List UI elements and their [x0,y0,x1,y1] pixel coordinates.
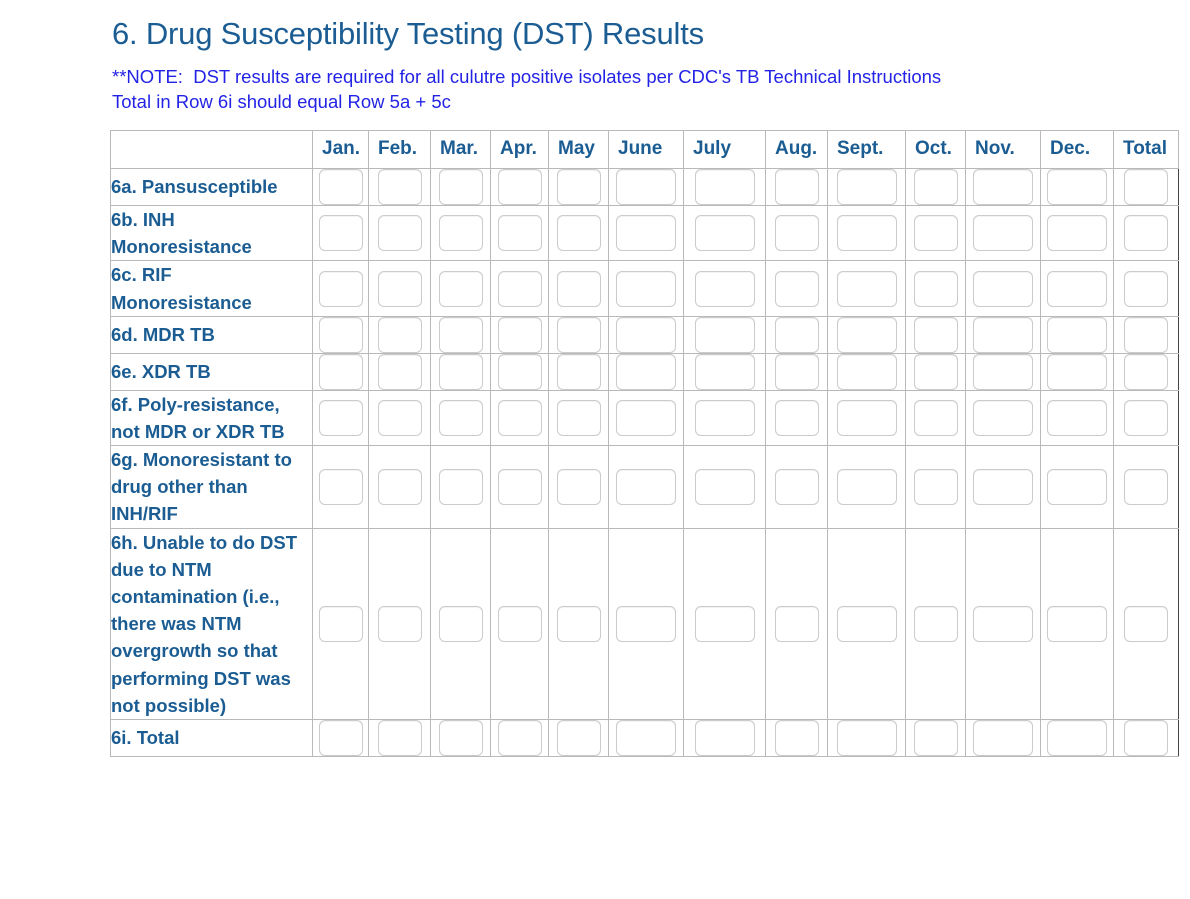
input-r1-c7[interactable] [775,215,819,251]
input-r7-c2[interactable] [439,606,483,642]
input-r1-c3[interactable] [498,215,542,251]
input-r1-c6[interactable] [695,215,755,251]
table-cell [966,390,1041,445]
input-r1-c9[interactable] [914,215,958,251]
input-r2-c3[interactable] [498,271,542,307]
table-cell [369,719,431,756]
input-r5-c5[interactable] [616,400,676,436]
table-cell [1114,446,1179,529]
table-cell [1114,168,1179,205]
input-r0-c5[interactable] [616,169,676,205]
table-cell [609,528,684,719]
input-r4-c4[interactable] [557,354,601,390]
column-header-sept: Sept. [828,130,906,168]
input-r8-c5[interactable] [616,720,676,756]
input-r3-c5[interactable] [616,317,676,353]
input-r3-c12[interactable] [1124,317,1168,353]
table-cell [766,168,828,205]
input-r2-c5[interactable] [616,271,676,307]
table-cell [491,261,549,316]
input-r5-c12[interactable] [1124,400,1168,436]
input-r8-c0[interactable] [319,720,363,756]
input-r5-c1[interactable] [378,400,422,436]
input-r4-c2[interactable] [439,354,483,390]
column-header-total: Total [1114,130,1179,168]
table-cell [766,719,828,756]
input-r4-c0[interactable] [319,354,363,390]
table-cell [313,719,369,756]
input-r6-c1[interactable] [378,469,422,505]
input-r8-c4[interactable] [557,720,601,756]
table-cell [549,390,609,445]
header-corner [111,130,313,168]
input-r5-c10[interactable] [973,400,1033,436]
table-cell [313,316,369,353]
input-r8-c1[interactable] [378,720,422,756]
column-header-july: July [684,130,766,168]
input-r2-c9[interactable] [914,271,958,307]
table-cell [491,353,549,390]
input-r0-c4[interactable] [557,169,601,205]
dst-table-container: Jan. Feb. Mar. Apr. May June July Aug. S… [0,114,1190,757]
note-block: **NOTE: DST results are required for all… [0,52,1190,114]
table-cell [549,353,609,390]
input-r8-c8[interactable] [837,720,897,756]
table-cell [369,390,431,445]
input-r0-c6[interactable] [695,169,755,205]
row-label-6: 6g. Monoresistant to drug other than INH… [111,446,313,529]
input-r8-c6[interactable] [695,720,755,756]
table-cell [491,316,549,353]
table-cell [491,168,549,205]
input-r7-c7[interactable] [775,606,819,642]
table-cell [684,719,766,756]
column-header-jan: Jan. [313,130,369,168]
input-r0-c9[interactable] [914,169,958,205]
input-r0-c11[interactable] [1047,169,1107,205]
row-label-4: 6e. XDR TB [111,353,313,390]
input-r8-c10[interactable] [973,720,1033,756]
table-row: 6f. Poly-resistance, not MDR or XDR TB [111,390,1179,445]
table-cell [966,168,1041,205]
page-title: 6. Drug Susceptibility Testing (DST) Res… [0,0,1190,52]
table-cell [906,528,966,719]
table-cell [966,719,1041,756]
table-cell [1041,261,1114,316]
input-r0-c3[interactable] [498,169,542,205]
input-r6-c0[interactable] [319,469,363,505]
table-cell [549,168,609,205]
column-header-nov: Nov. [966,130,1041,168]
input-r4-c12[interactable] [1124,354,1168,390]
table-cell [766,390,828,445]
table-row: 6e. XDR TB [111,353,1179,390]
table-cell [369,316,431,353]
input-r6-c11[interactable] [1047,469,1107,505]
table-cell [549,261,609,316]
input-r7-c5[interactable] [616,606,676,642]
input-r1-c4[interactable] [557,215,601,251]
table-cell [828,205,906,260]
table-cell [431,205,491,260]
table-cell [431,316,491,353]
column-header-may: May [549,130,609,168]
input-r3-c10[interactable] [973,317,1033,353]
table-row: 6a. Pansusceptible [111,168,1179,205]
input-r2-c1[interactable] [378,271,422,307]
table-cell [369,168,431,205]
table-cell [828,316,906,353]
input-r5-c2[interactable] [439,400,483,436]
table-cell [1114,205,1179,260]
input-r7-c11[interactable] [1047,606,1107,642]
table-cell [966,446,1041,529]
table-cell [549,719,609,756]
column-header-dec: Dec. [1041,130,1114,168]
input-r1-c11[interactable] [1047,215,1107,251]
input-r4-c6[interactable] [695,354,755,390]
input-r6-c10[interactable] [973,469,1033,505]
dst-results-table: Jan. Feb. Mar. Apr. May June July Aug. S… [110,130,1179,757]
table-cell [906,390,966,445]
table-cell [1041,168,1114,205]
input-r3-c2[interactable] [439,317,483,353]
input-r2-c10[interactable] [973,271,1033,307]
table-row: 6c. RIF Monoresistance [111,261,1179,316]
table-cell [431,168,491,205]
input-r2-c2[interactable] [439,271,483,307]
table-cell [491,446,549,529]
row-label-5: 6f. Poly-resistance, not MDR or XDR TB [111,390,313,445]
table-cell [369,205,431,260]
table-cell [906,205,966,260]
input-r0-c2[interactable] [439,169,483,205]
input-r7-c9[interactable] [914,606,958,642]
table-cell [684,353,766,390]
table-cell [828,390,906,445]
note-line-required: **NOTE: DST results are required for all… [112,64,1190,89]
table-cell [431,390,491,445]
input-r5-c7[interactable] [775,400,819,436]
table-cell [1041,528,1114,719]
input-r5-c6[interactable] [695,400,755,436]
row-label-2: 6c. RIF Monoresistance [111,261,313,316]
table-cell [906,719,966,756]
table-cell [828,261,906,316]
row-label-7: 6h. Unable to do DST due to NTM contamin… [111,528,313,719]
table-cell [766,528,828,719]
input-r6-c5[interactable] [616,469,676,505]
table-cell [906,353,966,390]
input-r0-c8[interactable] [837,169,897,205]
input-r7-c1[interactable] [378,606,422,642]
input-r0-c0[interactable] [319,169,363,205]
table-row: 6d. MDR TB [111,316,1179,353]
table-cell [828,353,906,390]
input-r2-c12[interactable] [1124,271,1168,307]
input-r2-c7[interactable] [775,271,819,307]
input-r1-c8[interactable] [837,215,897,251]
input-r0-c7[interactable] [775,169,819,205]
input-r3-c1[interactable] [378,317,422,353]
table-cell [431,353,491,390]
row-label-3: 6d. MDR TB [111,316,313,353]
table-cell [684,205,766,260]
table-cell [1114,261,1179,316]
column-header-june: June [609,130,684,168]
input-r6-c3[interactable] [498,469,542,505]
input-r7-c12[interactable] [1124,606,1168,642]
table-cell [369,528,431,719]
input-r0-c1[interactable] [378,169,422,205]
input-r5-c3[interactable] [498,400,542,436]
table-cell [966,528,1041,719]
table-cell [906,316,966,353]
table-cell [431,261,491,316]
table-row: 6i. Total [111,719,1179,756]
table-cell [313,353,369,390]
row-label-0: 6a. Pansusceptible [111,168,313,205]
input-r4-c9[interactable] [914,354,958,390]
table-cell [549,316,609,353]
input-r6-c7[interactable] [775,469,819,505]
table-cell [684,316,766,353]
input-r1-c2[interactable] [439,215,483,251]
input-r8-c11[interactable] [1047,720,1107,756]
table-cell [609,316,684,353]
input-r3-c7[interactable] [775,317,819,353]
table-cell [431,446,491,529]
table-cell [966,353,1041,390]
input-r4-c5[interactable] [616,354,676,390]
table-cell [1041,353,1114,390]
table-row: 6g. Monoresistant to drug other than INH… [111,446,1179,529]
input-r2-c0[interactable] [319,271,363,307]
table-header: Jan. Feb. Mar. Apr. May June July Aug. S… [111,130,1179,168]
table-cell [906,168,966,205]
table-cell [609,390,684,445]
input-r0-c10[interactable] [973,169,1033,205]
table-cell [491,719,549,756]
input-r0-c12[interactable] [1124,169,1168,205]
input-r1-c0[interactable] [319,215,363,251]
input-r6-c12[interactable] [1124,469,1168,505]
column-header-oct: Oct. [906,130,966,168]
input-r5-c8[interactable] [837,400,897,436]
column-header-mar: Mar. [431,130,491,168]
table-cell [684,446,766,529]
table-row: 6h. Unable to do DST due to NTM contamin… [111,528,1179,719]
table-cell [313,261,369,316]
input-r6-c6[interactable] [695,469,755,505]
table-cell [491,205,549,260]
input-r2-c8[interactable] [837,271,897,307]
table-cell [828,528,906,719]
input-r8-c7[interactable] [775,720,819,756]
table-cell [609,719,684,756]
input-r7-c10[interactable] [973,606,1033,642]
input-r7-c3[interactable] [498,606,542,642]
table-cell [491,390,549,445]
input-r8-c3[interactable] [498,720,542,756]
table-cell [966,205,1041,260]
table-cell [549,528,609,719]
input-r7-c6[interactable] [695,606,755,642]
table-cell [766,446,828,529]
input-r4-c10[interactable] [973,354,1033,390]
input-r4-c3[interactable] [498,354,542,390]
note-line-total: Total in Row 6i should equal Row 5a + 5c [112,89,1190,114]
column-header-feb: Feb. [369,130,431,168]
table-cell [1041,446,1114,529]
table-cell [609,261,684,316]
table-body: 6a. Pansusceptible6b. INH Monoresistance… [111,168,1179,756]
input-r7-c0[interactable] [319,606,363,642]
table-cell [906,261,966,316]
table-cell [966,316,1041,353]
table-cell [369,261,431,316]
input-r4-c1[interactable] [378,354,422,390]
table-cell [828,446,906,529]
table-cell [828,168,906,205]
table-cell [369,446,431,529]
input-r2-c11[interactable] [1047,271,1107,307]
table-cell [431,719,491,756]
table-cell [313,168,369,205]
input-r5-c4[interactable] [557,400,601,436]
table-cell [1041,205,1114,260]
input-r3-c9[interactable] [914,317,958,353]
table-cell [549,205,609,260]
input-r1-c12[interactable] [1124,215,1168,251]
table-cell [1041,390,1114,445]
table-cell [684,528,766,719]
table-cell [966,261,1041,316]
input-r3-c3[interactable] [498,317,542,353]
input-r3-c8[interactable] [837,317,897,353]
table-cell [369,353,431,390]
input-r1-c5[interactable] [616,215,676,251]
row-label-8: 6i. Total [111,719,313,756]
input-r5-c11[interactable] [1047,400,1107,436]
input-r5-c0[interactable] [319,400,363,436]
input-r6-c4[interactable] [557,469,601,505]
table-cell [1041,719,1114,756]
table-cell [1114,528,1179,719]
input-r2-c4[interactable] [557,271,601,307]
table-cell [313,390,369,445]
table-cell [1114,719,1179,756]
table-cell [684,261,766,316]
table-cell [549,446,609,529]
input-r6-c8[interactable] [837,469,897,505]
input-r6-c2[interactable] [439,469,483,505]
input-r1-c10[interactable] [973,215,1033,251]
input-r8-c12[interactable] [1124,720,1168,756]
table-cell [906,446,966,529]
column-header-apr: Apr. [491,130,549,168]
table-cell [609,205,684,260]
input-r4-c8[interactable] [837,354,897,390]
table-cell [766,316,828,353]
input-r4-c7[interactable] [775,354,819,390]
input-r4-c11[interactable] [1047,354,1107,390]
table-cell [828,719,906,756]
input-r6-c9[interactable] [914,469,958,505]
input-r5-c9[interactable] [914,400,958,436]
table-cell [766,261,828,316]
table-cell [313,205,369,260]
input-r2-c6[interactable] [695,271,755,307]
table-cell [313,528,369,719]
table-cell [1041,316,1114,353]
table-cell [431,528,491,719]
input-r8-c2[interactable] [439,720,483,756]
table-cell [1114,316,1179,353]
input-r7-c4[interactable] [557,606,601,642]
input-r8-c9[interactable] [914,720,958,756]
table-header-row: Jan. Feb. Mar. Apr. May June July Aug. S… [111,130,1179,168]
table-cell [1114,390,1179,445]
input-r3-c11[interactable] [1047,317,1107,353]
input-r3-c6[interactable] [695,317,755,353]
row-label-1: 6b. INH Monoresistance [111,205,313,260]
table-cell [684,168,766,205]
table-cell [491,528,549,719]
input-r7-c8[interactable] [837,606,897,642]
input-r3-c4[interactable] [557,317,601,353]
table-cell [313,446,369,529]
table-cell [609,353,684,390]
table-cell [609,168,684,205]
input-r1-c1[interactable] [378,215,422,251]
table-cell [684,390,766,445]
table-cell [766,205,828,260]
table-cell [1114,353,1179,390]
table-cell [766,353,828,390]
column-header-aug: Aug. [766,130,828,168]
table-cell [609,446,684,529]
dst-results-page: 6. Drug Susceptibility Testing (DST) Res… [0,0,1190,899]
table-row: 6b. INH Monoresistance [111,205,1179,260]
input-r3-c0[interactable] [319,317,363,353]
